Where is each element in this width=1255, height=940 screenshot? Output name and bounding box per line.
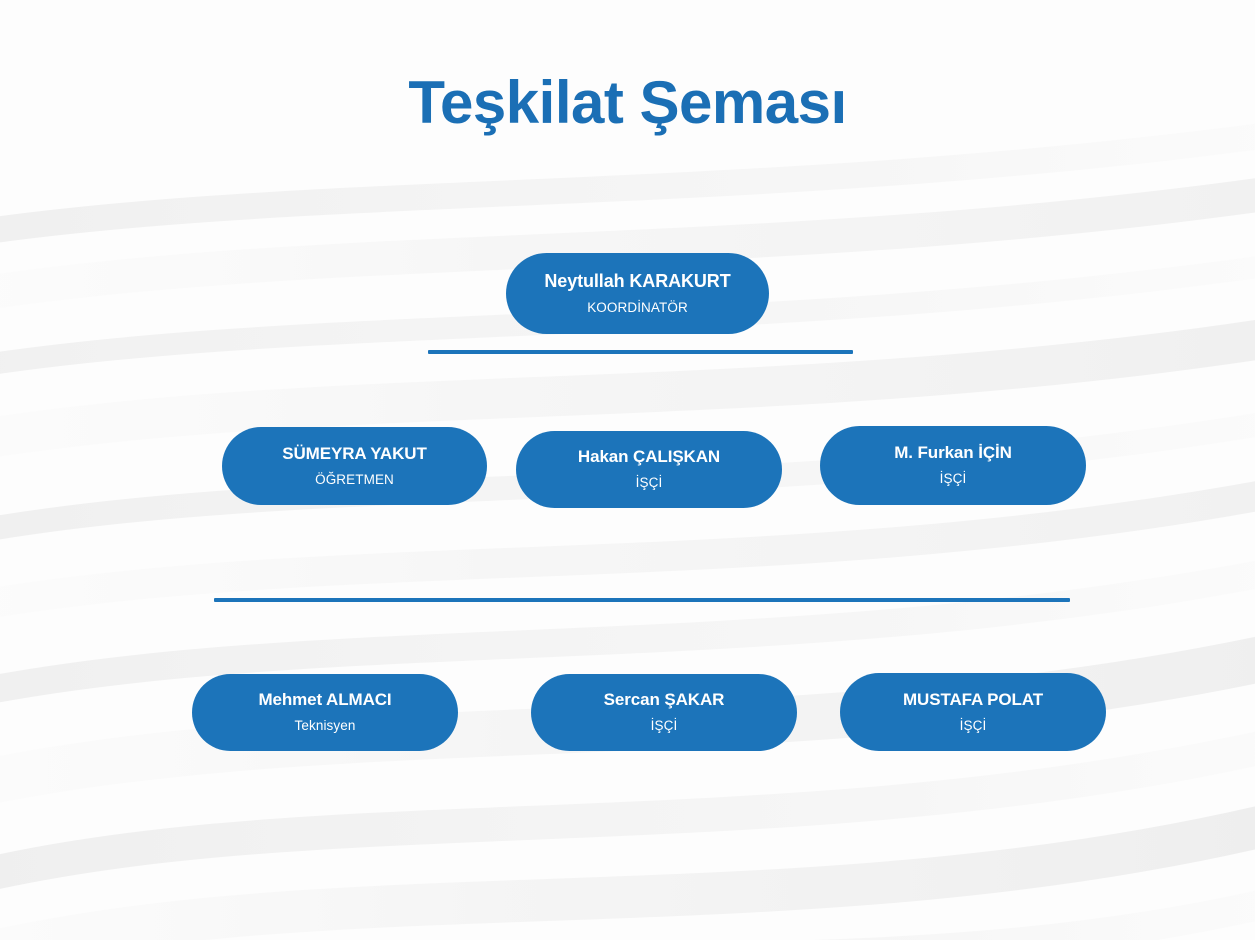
divider-top: [428, 350, 853, 354]
org-node-name: MUSTAFA POLAT: [903, 690, 1043, 710]
org-node-role: KOORDİNATÖR: [587, 299, 688, 317]
org-node-role: İŞÇİ: [651, 717, 678, 735]
org-node-level3-2[interactable]: Sercan ŞAKAR İŞÇİ: [531, 674, 797, 751]
org-node-role: Teknisyen: [295, 717, 356, 735]
org-node-level2-3[interactable]: M. Furkan İÇİN İŞÇİ: [820, 426, 1086, 505]
org-node-level2-2[interactable]: Hakan ÇALIŞKAN İŞÇİ: [516, 431, 782, 508]
org-chart-slide: Teşkilat Şeması Neytullah KARAKURT KOORD…: [0, 0, 1255, 940]
org-node-level2-1[interactable]: SÜMEYRA YAKUT ÖĞRETMEN: [222, 427, 487, 505]
page-title: Teşkilat Şeması: [0, 70, 1255, 136]
org-node-name: SÜMEYRA YAKUT: [282, 444, 427, 464]
org-node-level3-1[interactable]: Mehmet ALMACI Teknisyen: [192, 674, 458, 751]
org-node-name: Mehmet ALMACI: [258, 690, 391, 710]
org-node-role: ÖĞRETMEN: [315, 471, 394, 489]
org-node-root[interactable]: Neytullah KARAKURT KOORDİNATÖR: [506, 253, 769, 334]
org-node-name: Neytullah KARAKURT: [544, 271, 730, 293]
divider-middle: [214, 598, 1070, 602]
org-node-role: İŞÇİ: [960, 717, 987, 735]
org-node-level3-3[interactable]: MUSTAFA POLAT İŞÇİ: [840, 673, 1106, 751]
org-node-role: İŞÇİ: [940, 470, 967, 488]
org-node-role: İŞÇİ: [636, 474, 663, 492]
org-node-name: Sercan ŞAKAR: [604, 690, 725, 710]
org-node-name: Hakan ÇALIŞKAN: [578, 447, 720, 467]
org-node-name: M. Furkan İÇİN: [894, 443, 1012, 463]
